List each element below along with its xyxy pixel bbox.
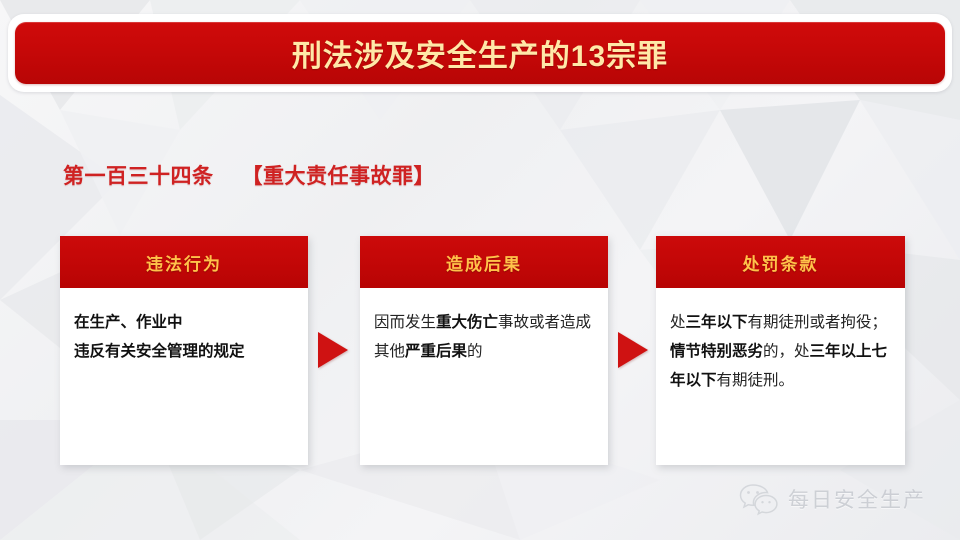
watermark-label: 每日安全生产 <box>788 484 926 514</box>
card-consequence-header-label: 造成后果 <box>446 250 522 275</box>
card-violation-line-2: 违反有关安全管理的规定 <box>74 337 294 366</box>
card-violation-header: 违法行为 <box>60 236 308 288</box>
title-banner-fill: 刑法涉及安全生产的13宗罪 <box>15 22 945 84</box>
arrow-right-icon-2 <box>618 332 648 368</box>
slide-root: 刑法涉及安全生产的13宗罪 第一百三十四条【重大责任事故罪】 违法行为 在生产、… <box>0 0 960 540</box>
article-name: 【重大责任事故罪】 <box>242 165 436 188</box>
card-penalty-line-1: 处三年以下有期徒刑或者拘役； <box>670 308 891 337</box>
title-banner: 刑法涉及安全生产的13宗罪 <box>8 14 952 92</box>
card-penalty-line-2: 情节特别恶劣的，处三年以上七年以下有期徒刑。 <box>670 337 891 395</box>
card-penalty-header: 处罚条款 <box>656 236 905 288</box>
article-heading: 第一百三十四条【重大责任事故罪】 <box>63 160 435 190</box>
page-title: 刑法涉及安全生产的13宗罪 <box>292 31 668 75</box>
card-penalty-header-label: 处罚条款 <box>743 250 819 275</box>
article-number: 第一百三十四条 <box>63 165 214 188</box>
card-penalty-body: 处三年以下有期徒刑或者拘役； 情节特别恶劣的，处三年以上七年以下有期徒刑。 <box>656 288 905 395</box>
card-penalty: 处罚条款 处三年以下有期徒刑或者拘役； 情节特别恶劣的，处三年以上七年以下有期徒… <box>656 236 905 465</box>
wechat-icon <box>738 482 778 516</box>
card-consequence: 造成后果 因而发生重大伤亡事故或者造成其他严重后果的 <box>360 236 608 465</box>
card-violation-body: 在生产、作业中 违反有关安全管理的规定 <box>60 288 308 366</box>
arrow-right-icon-1 <box>318 332 348 368</box>
card-violation-line-1: 在生产、作业中 <box>74 308 294 337</box>
card-consequence-body: 因而发生重大伤亡事故或者造成其他严重后果的 <box>360 288 608 366</box>
card-violation: 违法行为 在生产、作业中 违反有关安全管理的规定 <box>60 236 308 465</box>
watermark: 每日安全生产 <box>738 482 926 516</box>
card-consequence-header: 造成后果 <box>360 236 608 288</box>
card-violation-header-label: 违法行为 <box>146 250 222 275</box>
card-consequence-line-1: 因而发生重大伤亡事故或者造成其他严重后果的 <box>374 308 594 366</box>
